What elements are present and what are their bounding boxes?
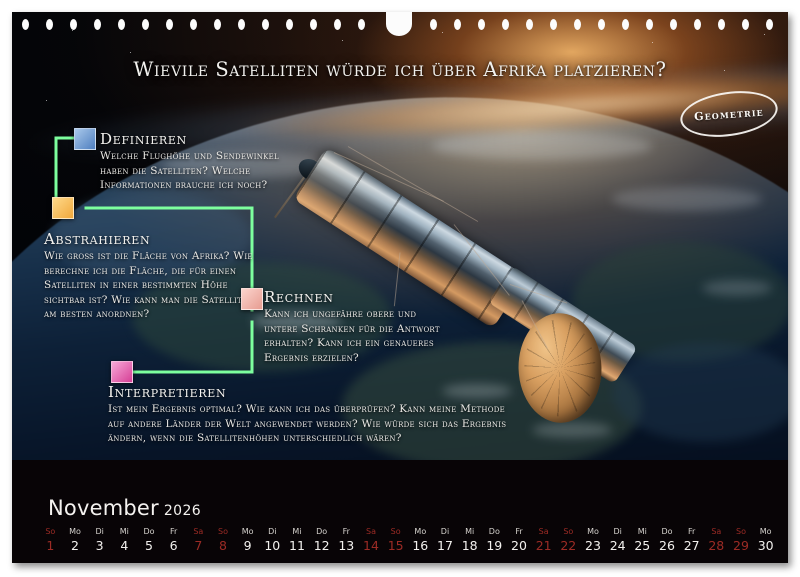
photo-satellite-over-earth: Wievile Satelliten würde ich über Afrika…	[12, 12, 788, 460]
calendar-day-number: 17	[433, 537, 458, 554]
calendar-day-6[interactable]: Fr6	[161, 526, 186, 554]
calendar-dow-label: Sa	[186, 526, 211, 537]
calendar-day-number: 29	[729, 537, 754, 554]
calendar-day-3[interactable]: Di3	[87, 526, 112, 554]
block-heading-abstrahieren: Abstrahieren	[44, 230, 256, 248]
star	[442, 32, 443, 33]
calendar-day-1[interactable]: So1	[38, 526, 63, 554]
calendar-day-17[interactable]: Di17	[433, 526, 458, 554]
calendar-day-15[interactable]: So15	[383, 526, 408, 554]
calendar-day-13[interactable]: Fr13	[334, 526, 359, 554]
calendar-day-number: 23	[581, 537, 606, 554]
calendar-dow-label: Mi	[630, 526, 655, 537]
calendar-day-9[interactable]: Mo9	[235, 526, 260, 554]
calendar-day-11[interactable]: Mi11	[285, 526, 310, 554]
calendar-dow-label: Fr	[161, 526, 186, 537]
star	[130, 52, 131, 53]
block-heading-definieren: Definieren	[100, 130, 300, 148]
calendar-dow-label: So	[38, 526, 63, 537]
calendar-day-number: 19	[482, 537, 507, 554]
calendar-day-19[interactable]: Do19	[482, 526, 507, 554]
page-title: Wievile Satelliten würde ich über Afrika…	[12, 58, 788, 81]
calendar-dow-label: Mo	[63, 526, 88, 537]
chip-rechnen	[241, 288, 263, 310]
calendar-dow-label: Fr	[334, 526, 359, 537]
star	[652, 42, 653, 43]
calendar-day-number: 3	[87, 537, 112, 554]
calendar-day-number: 21	[531, 537, 556, 554]
calendar-day-27[interactable]: Fr27	[679, 526, 704, 554]
block-interpretieren: Interpretieren Ist mein Ergebnis optimal…	[108, 383, 508, 446]
calendar-dow-label: So	[556, 526, 581, 537]
calendar-day-22[interactable]: So22	[556, 526, 581, 554]
calendar-day-number: 13	[334, 537, 359, 554]
calendar-day-10[interactable]: Di10	[260, 526, 285, 554]
star	[217, 27, 218, 28]
calendar-dow-label: So	[383, 526, 408, 537]
block-heading-interpretieren: Interpretieren	[108, 383, 508, 401]
calendar-day-5[interactable]: Do5	[137, 526, 162, 554]
cloud	[612, 187, 762, 211]
calendar-day-23[interactable]: Mo23	[581, 526, 606, 554]
block-body-definieren: Welche Flughöhe und Sendewinkel haben di…	[100, 149, 300, 193]
calendar-dow-label: Mo	[408, 526, 433, 537]
calendar-day-7[interactable]: Sa7	[186, 526, 211, 554]
calendar-day-21[interactable]: Sa21	[531, 526, 556, 554]
calendar-day-8[interactable]: So8	[211, 526, 236, 554]
calendar-dow-label: Do	[137, 526, 162, 537]
calendar-dow-label: Mi	[285, 526, 310, 537]
star	[764, 34, 765, 35]
calendar-dow-label: Sa	[704, 526, 729, 537]
calendar-day-number: 2	[63, 537, 88, 554]
calendar-month: November	[48, 496, 159, 520]
block-definieren: Definieren Welche Flughöhe und Sendewink…	[100, 130, 300, 193]
block-body-abstrahieren: Wie groß ist die Fläche von Afrika? Wie …	[44, 249, 256, 322]
calendar-day-30[interactable]: Mo30	[753, 526, 778, 554]
calendar-day-18[interactable]: Mi18	[457, 526, 482, 554]
landmass	[612, 342, 788, 442]
calendar-day-number: 30	[753, 537, 778, 554]
star	[72, 30, 73, 31]
calendar-day-number: 16	[408, 537, 433, 554]
block-body-interpretieren: Ist mein Ergebnis optimal? Wie kann ich …	[108, 402, 508, 446]
cloud	[702, 280, 772, 296]
calendar-day-20[interactable]: Fr20	[507, 526, 532, 554]
calendar-dow-label: Fr	[507, 526, 532, 537]
calendar-day-number: 1	[38, 537, 63, 554]
calendar-day-number: 7	[186, 537, 211, 554]
calendar-dow-label: Do	[482, 526, 507, 537]
chip-abstrahieren	[52, 197, 74, 219]
calendar-day-number: 5	[137, 537, 162, 554]
calendar-day-16[interactable]: Mo16	[408, 526, 433, 554]
calendar-day-number: 24	[605, 537, 630, 554]
calendar-day-29[interactable]: So29	[729, 526, 754, 554]
calendar-dow-label: Mi	[457, 526, 482, 537]
calendar-dow-label: Di	[433, 526, 458, 537]
calendar-day-number: 20	[507, 537, 532, 554]
calendar-day-number: 6	[161, 537, 186, 554]
calendar-day-number: 9	[235, 537, 260, 554]
calendar-dow-label: Mi	[112, 526, 137, 537]
calendar-dow-label: Di	[87, 526, 112, 537]
star	[46, 100, 47, 101]
calendar-day-number: 15	[383, 537, 408, 554]
chip-interpretieren	[111, 361, 133, 383]
calendar-day-number: 14	[359, 537, 384, 554]
calendar-day-number: 26	[655, 537, 680, 554]
block-abstrahieren: Abstrahieren Wie groß ist die Fläche von…	[44, 230, 256, 322]
calendar-day-number: 28	[704, 537, 729, 554]
calendar-day-26[interactable]: Do26	[655, 526, 680, 554]
calendar-day-number: 18	[457, 537, 482, 554]
calendar-dow-label: Di	[260, 526, 285, 537]
calendar-month-year: November2026	[48, 496, 201, 520]
calendar-day-number: 27	[679, 537, 704, 554]
block-body-rechnen: Kann ich ungefähre obere und untere Schr…	[264, 307, 442, 365]
calendar-day-number: 22	[556, 537, 581, 554]
block-rechnen: Rechnen Kann ich ungefähre obere und unt…	[264, 288, 442, 365]
calendar-dow-label: Sa	[359, 526, 384, 537]
calendar-dow-label: Di	[605, 526, 630, 537]
calendar-day-number: 4	[112, 537, 137, 554]
calendar-day-4[interactable]: Mi4	[112, 526, 137, 554]
calendar-dow-label: Do	[309, 526, 334, 537]
calendar-day-28[interactable]: Sa28	[704, 526, 729, 554]
calendar-dow-label: Sa	[531, 526, 556, 537]
chip-definieren	[74, 128, 96, 150]
calendar-day-number: 11	[285, 537, 310, 554]
calendar-dow-label: So	[211, 526, 236, 537]
calendar-day-grid: So1Mo2Di3Mi4Do5Fr6Sa7So8Mo9Di10Mi11Do12F…	[38, 526, 778, 554]
calendar-strip: November2026 So1Mo2Di3Mi4Do5Fr6Sa7So8Mo9…	[12, 460, 788, 563]
calendar-day-24[interactable]: Di24	[605, 526, 630, 554]
calendar-day-number: 8	[211, 537, 236, 554]
calendar-day-number: 10	[260, 537, 285, 554]
calendar-dow-label: Fr	[679, 526, 704, 537]
block-heading-rechnen: Rechnen	[264, 288, 442, 306]
star	[342, 40, 343, 41]
calendar-dow-label: Do	[655, 526, 680, 537]
calendar-day-12[interactable]: Do12	[309, 526, 334, 554]
calendar-day-25[interactable]: Mi25	[630, 526, 655, 554]
calendar-sheet: Wievile Satelliten würde ich über Afrika…	[12, 12, 788, 563]
calendar-dow-label: Mo	[581, 526, 606, 537]
calendar-day-number: 25	[630, 537, 655, 554]
calendar-day-number: 12	[309, 537, 334, 554]
calendar-day-14[interactable]: Sa14	[359, 526, 384, 554]
calendar-year: 2026	[164, 503, 201, 519]
calendar-day-2[interactable]: Mo2	[63, 526, 88, 554]
topic-badge-label: Geometrie	[694, 105, 765, 123]
calendar-dow-label: Mo	[235, 526, 260, 537]
calendar-dow-label: So	[729, 526, 754, 537]
calendar-dow-label: Mo	[753, 526, 778, 537]
